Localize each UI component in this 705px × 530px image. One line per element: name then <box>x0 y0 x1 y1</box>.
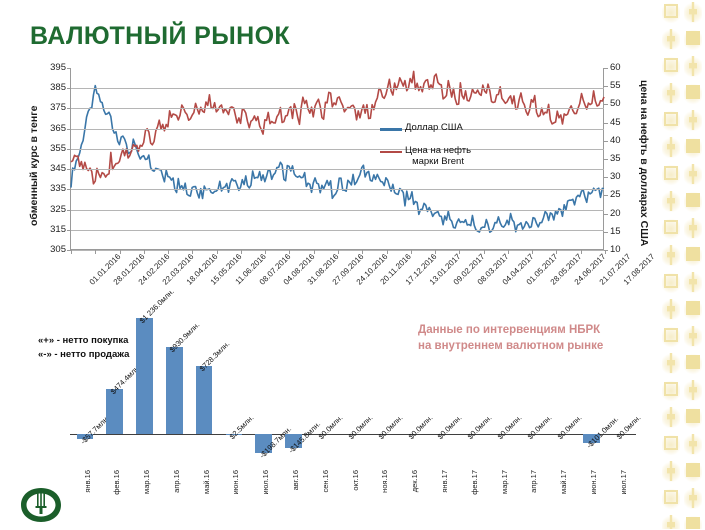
ornament-cell <box>661 108 681 135</box>
bar-chart-x-label: дек.16 <box>410 470 419 492</box>
line-chart-left-tick: 345 <box>50 164 66 174</box>
bar-chart-x-label: фев.17 <box>470 470 479 495</box>
line-chart-plot-area: 3953853753653553453353253153056055504540… <box>70 68 604 250</box>
bar-chart-x-label: июн.17 <box>589 470 598 494</box>
ornament-cell <box>683 54 703 81</box>
line-chart-right-axis-title: цена на нефть в долларах США <box>636 68 652 258</box>
legend-swatch-usd <box>380 128 402 131</box>
line-chart-gridline <box>71 230 604 231</box>
ornament-cell <box>683 189 703 216</box>
line-chart-right-tick: 45 <box>610 118 621 128</box>
ornament-cell <box>683 216 703 243</box>
bar-chart-x-label: июн.16 <box>231 470 240 494</box>
line-chart-right-tick: 30 <box>610 172 621 182</box>
line-chart-x-axis-labels: 01.01.201628.01.201624.02.201622.03.2016… <box>70 252 604 304</box>
bar-label-май.16: $728.3млн. <box>198 339 232 373</box>
line-chart-right-tick-mark <box>604 159 608 160</box>
bar-май.16 <box>196 366 213 434</box>
ornament-cell <box>683 432 703 459</box>
line-chart-right-tick-mark <box>604 232 608 233</box>
ornament-cell <box>683 378 703 405</box>
bar-label-ноя.16: $0.0млн. <box>376 413 404 441</box>
bar-chart-x-label: мар.17 <box>500 470 509 494</box>
line-chart-gridline <box>71 189 604 190</box>
ornament-cell <box>661 0 681 27</box>
line-chart-right-tick-mark <box>604 86 608 87</box>
bar-chart-x-label: авг.16 <box>291 470 300 490</box>
bar-label-дек.16: $0.0млн. <box>406 413 434 441</box>
ornament-cell <box>661 513 681 529</box>
line-chart-left-tick: 335 <box>50 184 66 194</box>
line-chart-series-svg <box>71 68 604 249</box>
ornament-cell <box>661 135 681 162</box>
page-title: ВАЛЮТНЫЙ РЫНОК <box>30 22 290 51</box>
bar-chart-x-label: июл.17 <box>619 470 628 494</box>
bar-chart-x-label: янв.17 <box>440 470 449 493</box>
line-chart-right-tick-mark <box>604 195 608 196</box>
line-chart-left-tick: 395 <box>50 63 66 73</box>
line-chart-left-tick: 315 <box>50 225 66 235</box>
line-chart-left-tick: 325 <box>50 205 66 215</box>
bar-chart-x-label: ноя.16 <box>380 470 389 493</box>
bar-label-фев.17: $0.0млн. <box>466 413 494 441</box>
line-chart-right-tick: 20 <box>610 209 621 219</box>
ornament-cell <box>661 27 681 54</box>
line-chart-gridline <box>71 149 604 150</box>
ornament-cell <box>683 297 703 324</box>
bar-label-окт.16: $0.0млн. <box>347 413 375 441</box>
bar-label-апр.17: $0.0млн. <box>525 413 553 441</box>
bar-chart-x-label: окт.16 <box>351 470 360 491</box>
line-chart-right-tick: 15 <box>610 227 621 237</box>
ornament-cell <box>661 378 681 405</box>
ornamental-border <box>659 0 705 529</box>
legend-label-usd: Доллар США <box>405 123 463 134</box>
bar-chart-x-label: янв.16 <box>83 470 92 493</box>
bar-chart-x-label: май.16 <box>202 470 211 494</box>
nbk-logo <box>18 485 64 525</box>
ornament-cell <box>661 351 681 378</box>
bar-label-июн.16: $2.5млн. <box>227 413 255 441</box>
line-chart-right-tick: 35 <box>610 154 621 164</box>
line-chart-left-tick: 375 <box>50 103 66 113</box>
ornament-cell <box>683 27 703 54</box>
ornament-cell <box>683 324 703 351</box>
bar-chart-x-label: июл.16 <box>261 470 270 494</box>
bar-chart-x-axis-labels: янв.16фев.16мар.16апр.16май.16июн.16июл.… <box>70 464 636 522</box>
line-chart-x-tick-mark <box>605 250 606 254</box>
line-chart-legend: Доллар США Цена на нефтьмарки Brent <box>380 123 500 180</box>
ornament-cell <box>683 486 703 513</box>
ornament-cell <box>661 405 681 432</box>
ornament-cell <box>661 81 681 108</box>
bar-апр.16 <box>166 347 183 434</box>
ornament-cell <box>683 81 703 108</box>
legend-item-usd: Доллар США <box>380 123 500 134</box>
legend-swatch-brent <box>380 151 402 154</box>
bar-chart-x-label: мар.16 <box>142 470 151 494</box>
bar-label-май.17: $0.0млн. <box>555 413 583 441</box>
line-chart-right-tick-mark <box>604 214 608 215</box>
line-chart-gridline <box>71 129 604 130</box>
ornament-cell <box>661 270 681 297</box>
line-chart-gridline <box>71 108 604 109</box>
line-chart-right-tick: 40 <box>610 136 621 146</box>
legend-label-brent-line1: Цена на нефть <box>405 145 471 156</box>
ornament-cell <box>683 351 703 378</box>
interventions-bar-chart: «+» - нетто покупка «-» - нетто продажа … <box>28 312 648 524</box>
line-chart-right-tick-mark <box>604 104 608 105</box>
line-chart-left-tick-mark <box>67 68 71 69</box>
legend-item-brent: Цена на нефтьмарки Brent <box>380 146 500 168</box>
ornament-cell <box>661 162 681 189</box>
bar-chart-x-label: фев.16 <box>112 470 121 495</box>
ornament-cell <box>683 135 703 162</box>
line-chart-left-tick: 365 <box>50 124 66 134</box>
ornament-cell <box>683 405 703 432</box>
ornament-cell <box>661 459 681 486</box>
line-chart-right-tick-mark <box>604 177 608 178</box>
ornament-cell <box>661 189 681 216</box>
line-chart-right-tick-mark <box>604 68 608 69</box>
bar-label-янв.17: $0.0млн. <box>436 413 464 441</box>
ornament-cell <box>661 486 681 513</box>
line-chart-left-axis-title: обменный курс в тенге <box>26 78 42 253</box>
exchange-rate-line-chart: обменный курс в тенге цена на нефть в до… <box>28 60 648 305</box>
ornament-cell <box>683 459 703 486</box>
bar-label-июл.17: $0.0млн. <box>615 413 643 441</box>
line-chart-right-tick-mark <box>604 123 608 124</box>
ornament-cell <box>683 0 703 27</box>
bar-label-мар.17: $0.0млн. <box>496 413 524 441</box>
bar-chart-x-label: апр.16 <box>172 470 181 493</box>
line-chart-right-tick: 55 <box>610 81 621 91</box>
slide-canvas: ВАЛЮТНЫЙ РЫНОК обменный курс в тенге цен… <box>0 0 705 529</box>
line-chart-left-tick: 305 <box>50 245 66 255</box>
ornament-cell <box>683 513 703 529</box>
line-chart-right-tick: 50 <box>610 99 621 109</box>
bar-chart-x-label: апр.17 <box>529 470 538 493</box>
ornament-cell <box>661 216 681 243</box>
line-chart-left-tick: 355 <box>50 144 66 154</box>
legend-label-brent: Цена на нефтьмарки Brent <box>405 146 471 168</box>
ornament-cell <box>661 432 681 459</box>
ornament-cell <box>683 270 703 297</box>
line-chart-right-tick: 60 <box>610 63 621 73</box>
bar-label-апр.16: $930.9млн. <box>168 320 202 354</box>
line-chart-right-tick-mark <box>604 141 608 142</box>
line-chart-left-tick: 385 <box>50 83 66 93</box>
ornament-cell <box>661 297 681 324</box>
line-chart-gridline <box>71 210 604 211</box>
line-chart-gridline <box>71 88 604 89</box>
line-chart-right-tick: 25 <box>610 190 621 200</box>
bar-chart-x-label: май.17 <box>559 470 568 494</box>
bar-мар.16 <box>136 318 153 434</box>
ornament-cell <box>683 243 703 270</box>
ornament-cell <box>683 108 703 135</box>
ornament-cell <box>683 162 703 189</box>
line-chart-gridline <box>71 169 604 170</box>
bar-chart-x-label: сен.16 <box>321 470 330 493</box>
ornament-cell <box>661 243 681 270</box>
legend-label-brent-line2: марки Brent <box>405 157 471 168</box>
ornament-cell <box>661 54 681 81</box>
line-chart-right-tick: 10 <box>610 245 621 255</box>
bar-chart-plot-area: -$57.7млн.$474.4млн.$1 236.0млн.$930.9мл… <box>70 312 636 462</box>
